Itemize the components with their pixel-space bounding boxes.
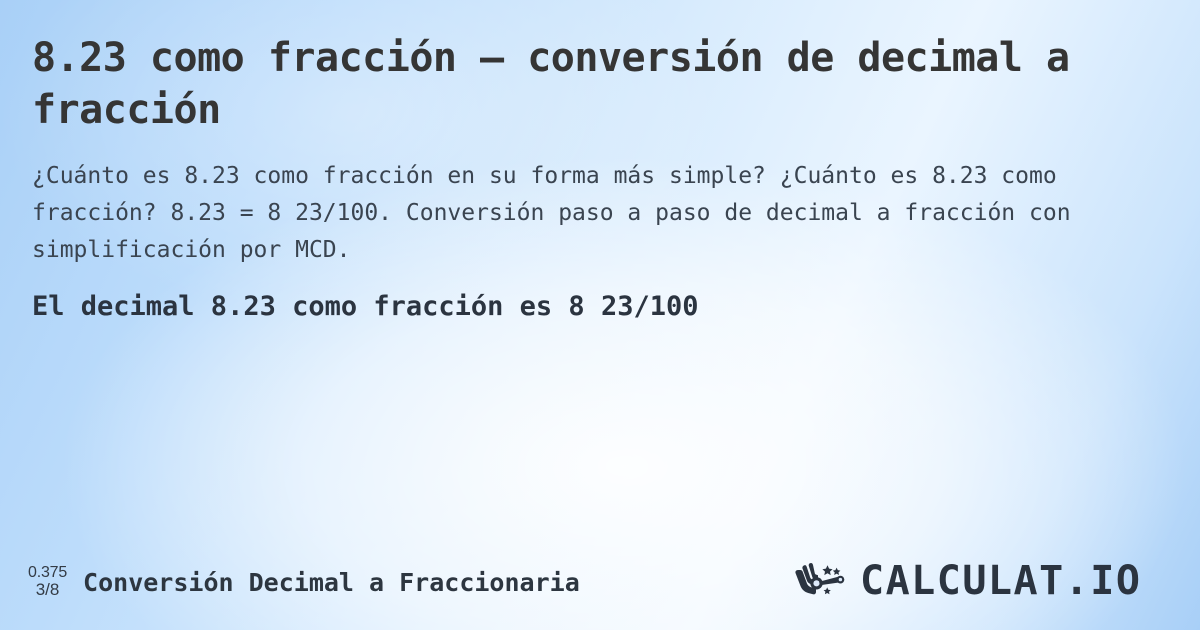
page-description: ¿Cuánto es 8.23 como fracción en su form…: [32, 158, 1152, 269]
footer-left-group: 0.375 3/8 Conversión Decimal a Fracciona…: [28, 564, 580, 600]
badge-decimal-value: 0.375: [28, 564, 67, 581]
magic-wand-hand-icon: [794, 561, 856, 603]
page-title: 8.23 como fracción – conversión de decim…: [32, 32, 1122, 136]
brand-wordmark: CALCULAT.IO: [860, 559, 1170, 605]
footer: 0.375 3/8 Conversión Decimal a Fracciona…: [0, 534, 1200, 630]
fraction-example-badge: 0.375 3/8: [28, 564, 67, 600]
answer-statement: El decimal 8.23 como fracción es 8 23/10…: [32, 287, 1170, 327]
brand-logo[interactable]: CALCULAT.IO: [794, 559, 1178, 605]
svg-text:CALCULAT.IO: CALCULAT.IO: [860, 559, 1141, 604]
badge-fraction-value: 3/8: [36, 581, 60, 599]
footer-section-title: Conversión Decimal a Fraccionaria: [83, 568, 580, 597]
